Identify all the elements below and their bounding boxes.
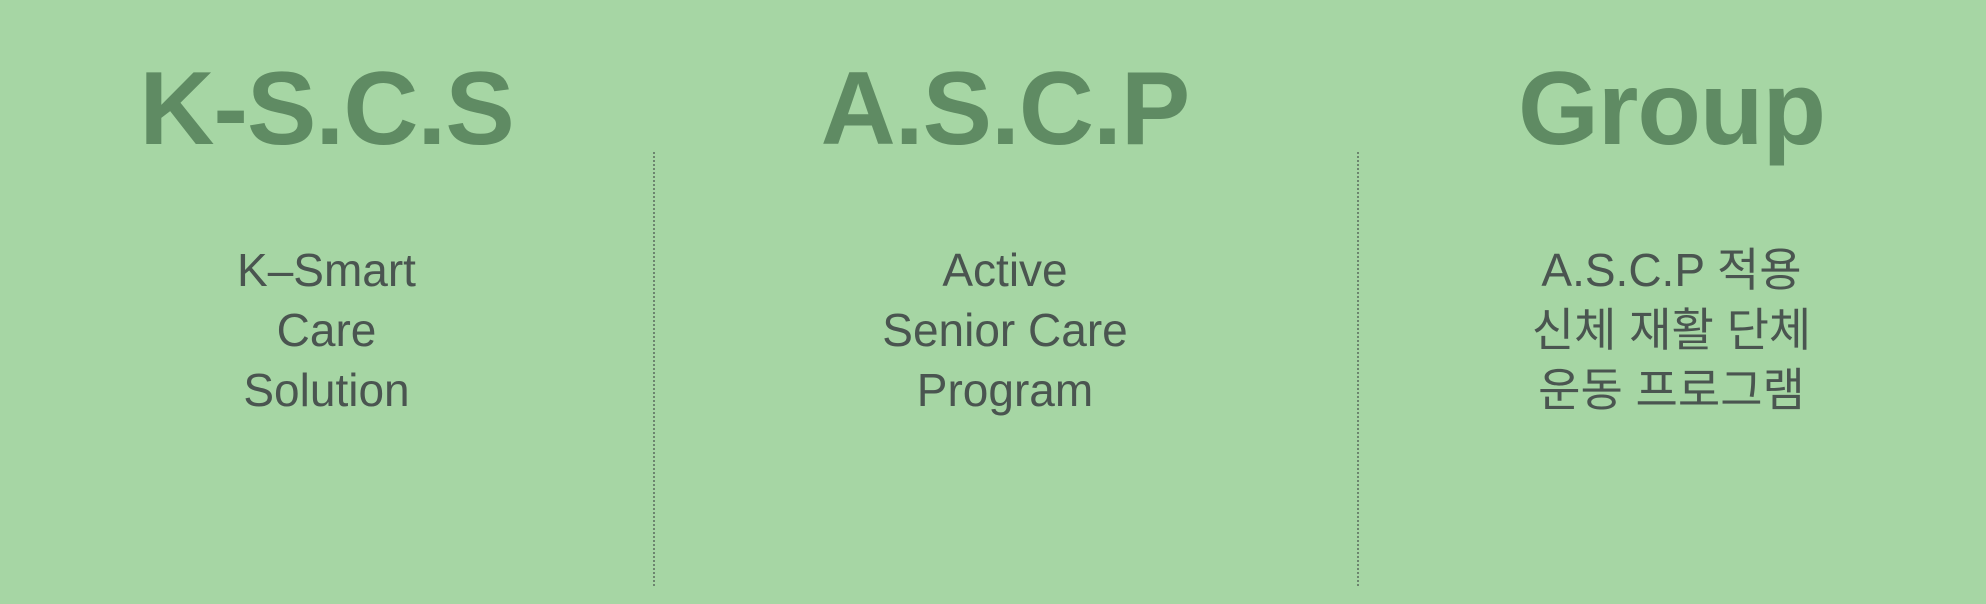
column-divider-1 — [653, 152, 655, 586]
column-ascp: A.S.C.P Active Senior Care Program — [653, 0, 1357, 604]
column-3-subtitle: A.S.C.P 적용 신체 재활 단체 운동 프로그램 — [1357, 240, 1986, 420]
column-1-subtitle-line-3: Solution — [0, 360, 653, 420]
column-2-subtitle-line-2: Senior Care — [653, 300, 1357, 360]
column-3-subtitle-line-2: 신체 재활 단체 — [1357, 300, 1986, 360]
column-k-scs: K-S.C.S K–Smart Care Solution — [0, 0, 653, 604]
column-2-heading: A.S.C.P — [653, 57, 1357, 161]
three-column-banner: K-S.C.S K–Smart Care Solution A.S.C.P Ac… — [0, 0, 1986, 604]
column-2-subtitle-line-1: Active — [653, 240, 1357, 300]
column-3-subtitle-line-1: A.S.C.P 적용 — [1357, 240, 1986, 300]
column-1-subtitle-line-2: Care — [0, 300, 653, 360]
column-3-heading: Group — [1357, 57, 1986, 161]
column-group: Group A.S.C.P 적용 신체 재활 단체 운동 프로그램 — [1357, 0, 1986, 604]
column-divider-2 — [1357, 152, 1359, 586]
column-3-subtitle-line-3: 운동 프로그램 — [1357, 360, 1986, 420]
column-1-heading: K-S.C.S — [0, 57, 653, 161]
column-1-subtitle: K–Smart Care Solution — [0, 240, 653, 420]
column-1-subtitle-line-1: K–Smart — [0, 240, 653, 300]
column-2-subtitle-line-3: Program — [653, 360, 1357, 420]
column-2-subtitle: Active Senior Care Program — [653, 240, 1357, 420]
